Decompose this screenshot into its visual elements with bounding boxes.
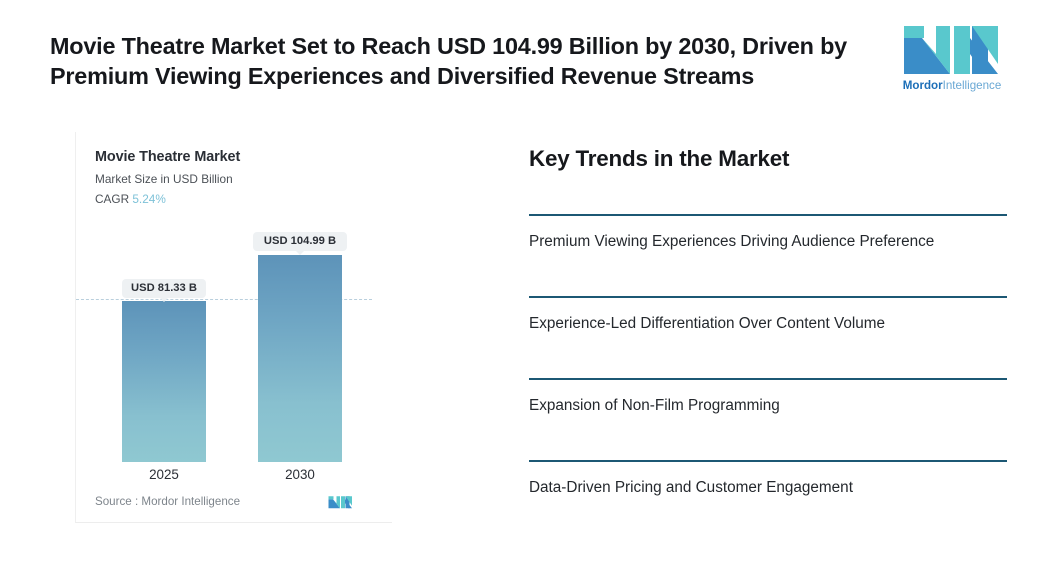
bar-value-label-2030: USD 104.99 B (253, 232, 347, 251)
trend-item-1: Premium Viewing Experiences Driving Audi… (529, 214, 1007, 296)
mordor-intelligence-monogram-small-icon (328, 494, 353, 510)
mordor-intelligence-monogram-icon (902, 24, 1002, 74)
page-title: Movie Theatre Market Set to Reach USD 10… (50, 31, 890, 91)
trend-item-4-text: Data-Driven Pricing and Customer Engagem… (529, 479, 853, 496)
brand-logo: MordorIntelligence (897, 24, 1007, 102)
trend-item-3-text: Expansion of Non-Film Programming (529, 397, 780, 414)
chart-source-label: Source : (95, 495, 138, 508)
brand-wordmark: MordorIntelligence (897, 78, 1007, 94)
market-size-chart-card: Movie Theatre Market Market Size in USD … (75, 132, 392, 523)
brand-wordmark-secondary: Intelligence (943, 79, 1002, 92)
key-trends-heading: Key Trends in the Market (529, 146, 1007, 172)
key-trends-panel: Key Trends in the Market Premium Viewing… (529, 146, 1007, 502)
bar-2025 (122, 301, 206, 462)
trend-item-4: Data-Driven Pricing and Customer Engagem… (529, 460, 1007, 502)
page-header: Movie Theatre Market Set to Reach USD 10… (0, 0, 1062, 108)
chart-source-text: Source : Mordor Intelligence (95, 495, 240, 508)
infographic-page: Movie Theatre Market Set to Reach USD 10… (0, 0, 1062, 575)
chart-source-row: Source : Mordor Intelligence (95, 494, 375, 514)
trend-item-2-text: Experience-Led Differentiation Over Cont… (529, 315, 885, 332)
bar-2030 (258, 255, 342, 462)
x-axis-tick-2025: 2025 (122, 467, 206, 482)
bar-value-label-2025: USD 81.33 B (122, 279, 206, 298)
trend-item-3: Expansion of Non-Film Programming (529, 378, 1007, 460)
trend-item-1-text: Premium Viewing Experiences Driving Audi… (529, 233, 934, 250)
key-trends-list: Premium Viewing Experiences Driving Audi… (529, 214, 1007, 502)
x-axis-tick-2030: 2030 (258, 467, 342, 482)
chart-source-name: Mordor Intelligence (141, 495, 240, 508)
brand-wordmark-primary: Mordor (903, 79, 943, 92)
chart-plot-area: USD 81.33 B USD 104.99 B 2025 2030 (76, 132, 393, 523)
trend-item-2: Experience-Led Differentiation Over Cont… (529, 296, 1007, 378)
